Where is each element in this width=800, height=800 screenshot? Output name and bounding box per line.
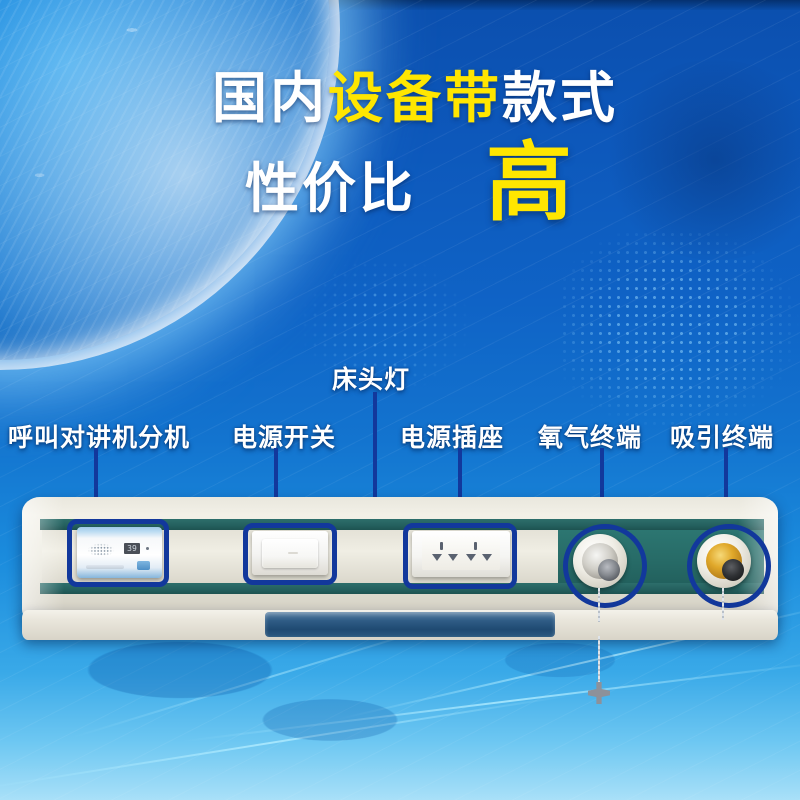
- headline-line1-accent: 设备带: [328, 66, 502, 130]
- callout-label-suction: 吸引终端: [670, 418, 774, 454]
- highlight-circle-suction: [687, 524, 771, 608]
- highlight-box-power-switch: [243, 523, 337, 585]
- highlight-circle-oxygen: [563, 524, 647, 608]
- headline-line1-part1: 国内: [212, 66, 328, 130]
- poster-canvas: 国内设备带款式 性价比 高 呼叫对讲机分机 电源开关 床头灯 电源插座 氧气终端…: [0, 0, 800, 800]
- oxygen-hose-cord: [598, 588, 600, 622]
- headline-line-2: 性价比 高: [0, 144, 800, 223]
- headline-line2-part1: 性价比: [245, 144, 416, 223]
- headline-block: 国内设备带款式 性价比 高: [0, 70, 800, 223]
- suction-pull-cord: [722, 588, 724, 620]
- headline-line2-accent: 高: [486, 145, 575, 222]
- headline-line1-part3: 款式: [502, 66, 618, 130]
- callout-label-oxygen: 氧气终端: [538, 418, 642, 454]
- panel-end-cap-left: [22, 497, 64, 625]
- callout-label-bed-light: 床头灯: [332, 360, 410, 396]
- callout-label-power-socket: 电源插座: [400, 418, 504, 454]
- highlight-box-intercom: [67, 519, 169, 587]
- callout-label-intercom: 呼叫对讲机分机: [8, 418, 190, 454]
- callout-label-power-switch: 电源开关: [232, 418, 336, 454]
- bed-light-lens: [265, 612, 555, 637]
- pull-cord-hanging[interactable]: [598, 636, 600, 688]
- highlight-box-power-socket: [403, 523, 517, 589]
- headline-line-1: 国内设备带款式: [0, 70, 800, 128]
